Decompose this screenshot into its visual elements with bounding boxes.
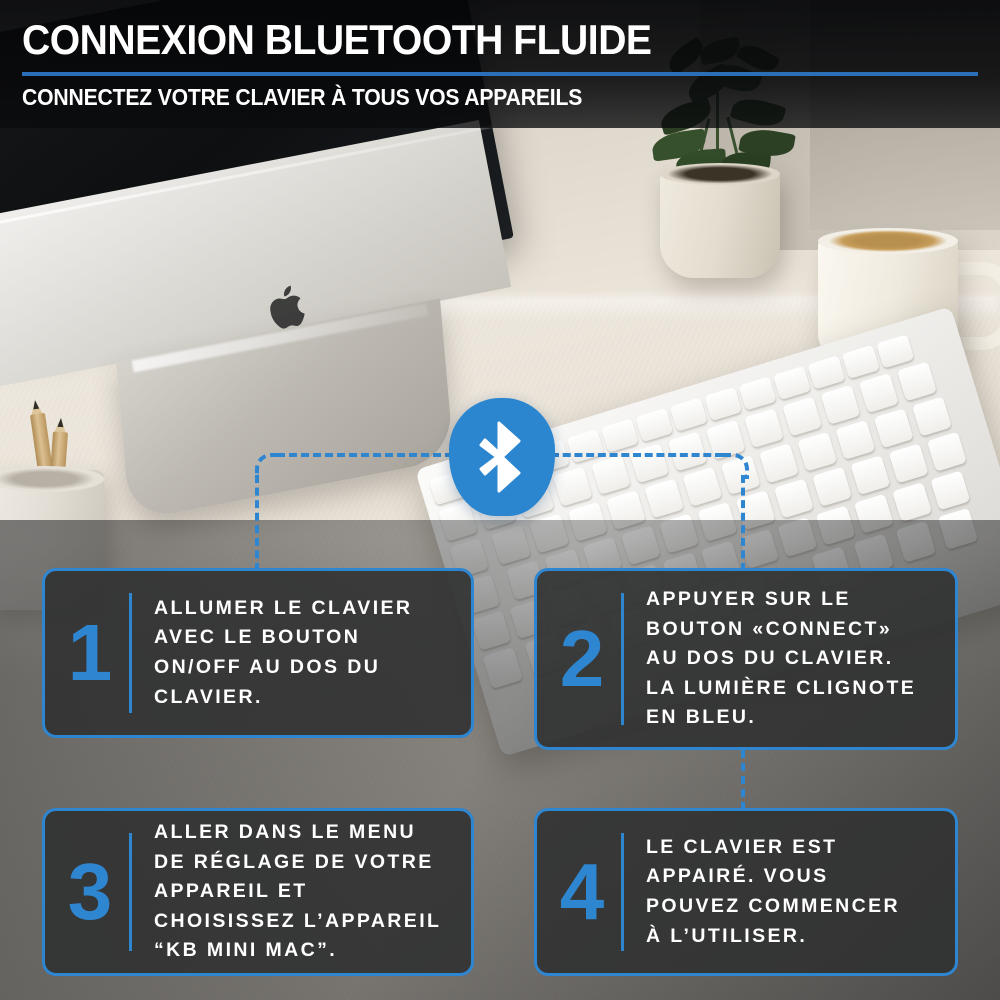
keyboard-key [629, 443, 669, 483]
keyboard-key [670, 397, 708, 431]
coffee-surface [818, 228, 958, 254]
page-title: CONNEXION BLUETOOTH FLUIDE [22, 18, 652, 62]
step-card-2[interactable]: 2 APPUYER SUR LE BOUTON «CONNECT» AU DOS… [534, 568, 958, 750]
bluetooth-badge[interactable] [449, 398, 555, 516]
step-card-4[interactable]: 4 LE CLAVIER EST APPAIRÉ. VOUS POUVEZ CO… [534, 808, 958, 976]
keyboard-key [850, 455, 890, 495]
keyboard-key [816, 505, 856, 545]
keyboard-key [644, 478, 684, 518]
keyboard-key [635, 408, 673, 442]
page-subtitle: CONNECTEZ VOTRE CLAVIER À TOUS VOS APPAR… [22, 84, 582, 111]
keyboard-key [606, 490, 646, 530]
keyboard-key [876, 334, 914, 368]
step-text-2: APPUYER SUR LE BOUTON «CONNECT» AU DOS D… [624, 585, 955, 733]
keyboard-key [738, 376, 776, 410]
keyboard-key [682, 467, 722, 507]
plant-pot [660, 170, 780, 278]
step-text-1: ALLUMER LE CLAVIER AVEC LE BOUTON ON/OFF… [132, 594, 471, 713]
keyboard-key [659, 514, 699, 554]
keyboard-key [744, 408, 784, 448]
connector-corner-left [255, 453, 281, 479]
pencil [54, 417, 69, 418]
step-number-2: 2 [543, 619, 621, 699]
keyboard-key [736, 490, 776, 530]
keyboard-key [704, 387, 742, 421]
bluetooth-icon [475, 419, 529, 495]
keyboard-key [591, 455, 631, 495]
keyboard-key [797, 432, 837, 472]
step-card-1[interactable]: 1 ALLUMER LE CLAVIER AVEC LE BOUTON ON/O… [42, 568, 474, 738]
keyboard-key [782, 396, 822, 436]
keyboard-key [566, 429, 604, 463]
keyboard-key [491, 525, 531, 565]
keyboard-key [621, 525, 661, 565]
keyboard-key [889, 443, 929, 483]
keyboard-key [854, 494, 894, 534]
step-card-3[interactable]: 3 ALLER DANS LE MENU DE RÉGLAGE DE VOTRE… [42, 808, 474, 976]
keyboard-key [874, 408, 914, 448]
keyboard-key [892, 482, 932, 522]
keyboard-key [668, 432, 708, 472]
keyboard-key [553, 467, 593, 507]
keyboard-key [812, 467, 852, 507]
keyboard-key [773, 366, 811, 400]
keyboard-key [835, 420, 875, 460]
keyboard-key [777, 517, 817, 557]
step-number-3: 3 [51, 852, 129, 932]
keyboard-key [529, 513, 569, 553]
keyboard-key [930, 470, 970, 510]
step-number-4: 4 [543, 852, 621, 932]
header-divider [22, 72, 978, 76]
keyboard-key [938, 508, 979, 550]
keyboard-key [859, 373, 899, 413]
keyboard-key [807, 355, 845, 389]
keyboard-key [759, 443, 799, 483]
step-text-3: ALLER DANS LE MENU DE RÉGLAGE DE VOTRE A… [132, 818, 471, 966]
keyboard-key [821, 385, 861, 425]
keyboard-key [896, 521, 937, 563]
infographic-canvas: CONNEXION BLUETOOTH FLUIDE CONNECTEZ VOT… [0, 0, 1000, 1000]
keyboard-key [927, 432, 967, 472]
keyboard-key [912, 397, 952, 437]
keyboard-key [842, 345, 880, 379]
keyboard-key [739, 529, 779, 569]
keyboard-key [601, 418, 639, 452]
keyboard-key [697, 502, 737, 542]
step-number-1: 1 [51, 613, 129, 693]
keyboard-key [774, 478, 814, 518]
plant-pot-rim [660, 163, 780, 185]
keyboard-key [897, 361, 937, 401]
keyboard-key [568, 502, 608, 542]
step-text-4: LE CLAVIER EST APPAIRÉ. VOUS POUVEZ COMM… [624, 833, 955, 952]
